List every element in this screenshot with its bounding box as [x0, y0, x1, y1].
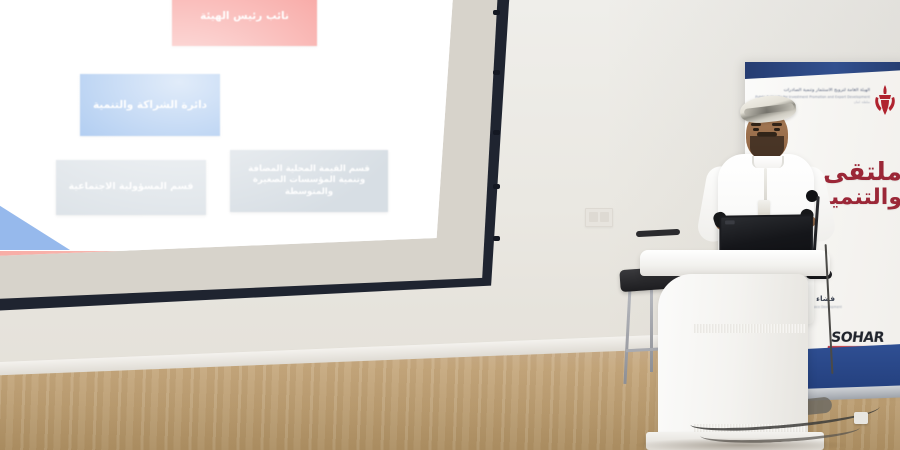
projected-slide: الهيئة العامة لترويج الاستثمار وتنمية ال… — [0, 0, 460, 262]
presenter-tassel — [764, 168, 767, 202]
stool-leg — [623, 286, 631, 384]
floor-cable-plug — [854, 412, 868, 424]
presenter-eye-right — [774, 128, 780, 131]
org-node-social-responsibility: قسم المسؤولية الاجتماعية — [56, 160, 206, 215]
sponsor-logo-sohar: SOHAR — [830, 330, 885, 346]
org-node-partnership-development: دائرة الشراكة والتنمية — [80, 74, 220, 136]
screen-surface: الهيئة العامة لترويج الاستثمار وتنمية ال… — [0, 0, 460, 262]
podium-floor-shadow — [636, 438, 846, 450]
org-node-local-value-sme: قسم القيمة المحلية المضافة وتنمية المؤسس… — [230, 150, 388, 212]
projection-screen: الهيئة العامة لترويج الاستثمار وتنمية ال… — [0, 0, 510, 312]
org-node-vice-president: نائب رئيس الهيئة — [172, 0, 317, 46]
wall-power-socket — [585, 208, 613, 227]
presenter-brow-right — [772, 123, 782, 126]
laptop-brand-logo — [725, 220, 735, 224]
presenter-eye-left — [753, 128, 759, 131]
presentation-photo-scene: الهيئة العامة لترويج الاستثمار وتنمية ال… — [0, 0, 900, 450]
screen-tension-hooks — [490, 0, 500, 288]
presenter-brow-left — [751, 123, 761, 126]
presenter-collar — [752, 156, 784, 168]
banner-top-bar — [745, 62, 900, 80]
presenter-id-badge — [758, 200, 770, 216]
podium-detail-band — [694, 324, 806, 333]
podium-top-surface — [640, 250, 830, 276]
oman-khanjar-emblem — [872, 84, 898, 116]
sohar-wordmark: SOHAR — [830, 330, 885, 346]
